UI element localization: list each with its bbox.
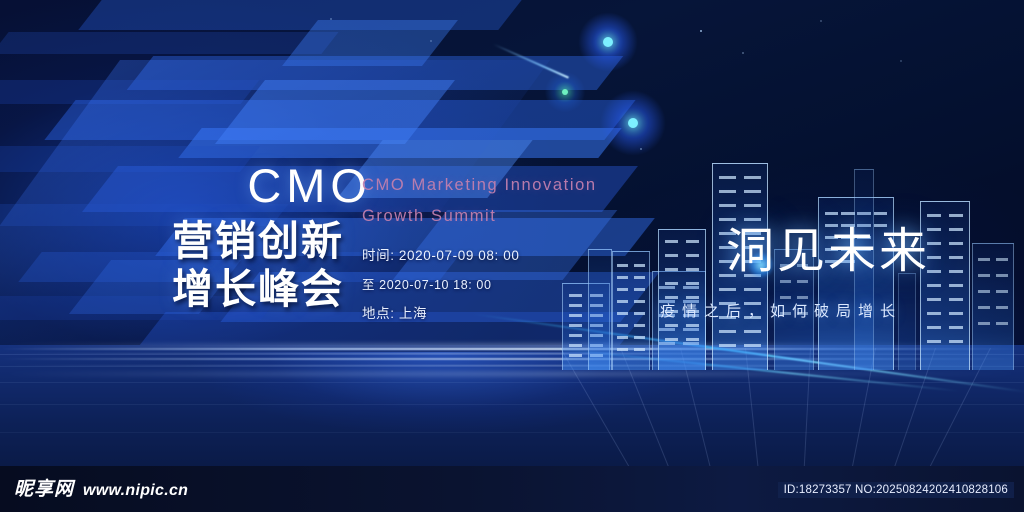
slogan-main-block: 洞见未来 <box>726 228 930 276</box>
event-meta: 时间: 2020-07-09 08: 00 至 2020-07-10 18: 0… <box>362 249 622 321</box>
event-place: 地点: 上海 <box>362 307 622 321</box>
event-time-start: 时间: 2020-07-09 08: 00 <box>362 249 622 263</box>
main-title-block: CMO 营销创新 增长峰会 <box>138 162 378 314</box>
event-time-end: 至 2020-07-10 18: 00 <box>362 279 622 292</box>
glow-orb-1 <box>578 12 638 72</box>
title-cn-line1: 营销创新 <box>138 217 378 265</box>
slogan-main: 洞见未来 <box>726 228 930 276</box>
glow-orb-2 <box>600 90 666 156</box>
poster-canvas: CMO 营销创新 增长峰会 CMO Marketing Innovation G… <box>0 0 1024 512</box>
watermark: 昵享网 www.nipic.cn <box>14 474 188 501</box>
glow-orb-3 <box>545 72 585 112</box>
title-cmo: CMO <box>138 162 378 209</box>
subtitle-en-line1: CMO Marketing Innovation <box>362 170 622 201</box>
image-id-tag: ID:18273357 NO:20250824202410828106 <box>778 482 1014 498</box>
footer-bar: 昵享网 www.nipic.cn ID:18273357 NO:20250824… <box>0 466 1024 512</box>
watermark-url: www.nipic.cn <box>83 482 188 500</box>
subtitle-en-line2: Growth Summit <box>362 201 622 232</box>
watermark-brand: 昵享网 <box>14 474 74 501</box>
title-cn-line2: 增长峰会 <box>138 265 378 313</box>
slogan-sub: 疫情之后，如何破局增长 <box>660 300 902 321</box>
event-info-block: CMO Marketing Innovation Growth Summit 时… <box>362 170 622 337</box>
